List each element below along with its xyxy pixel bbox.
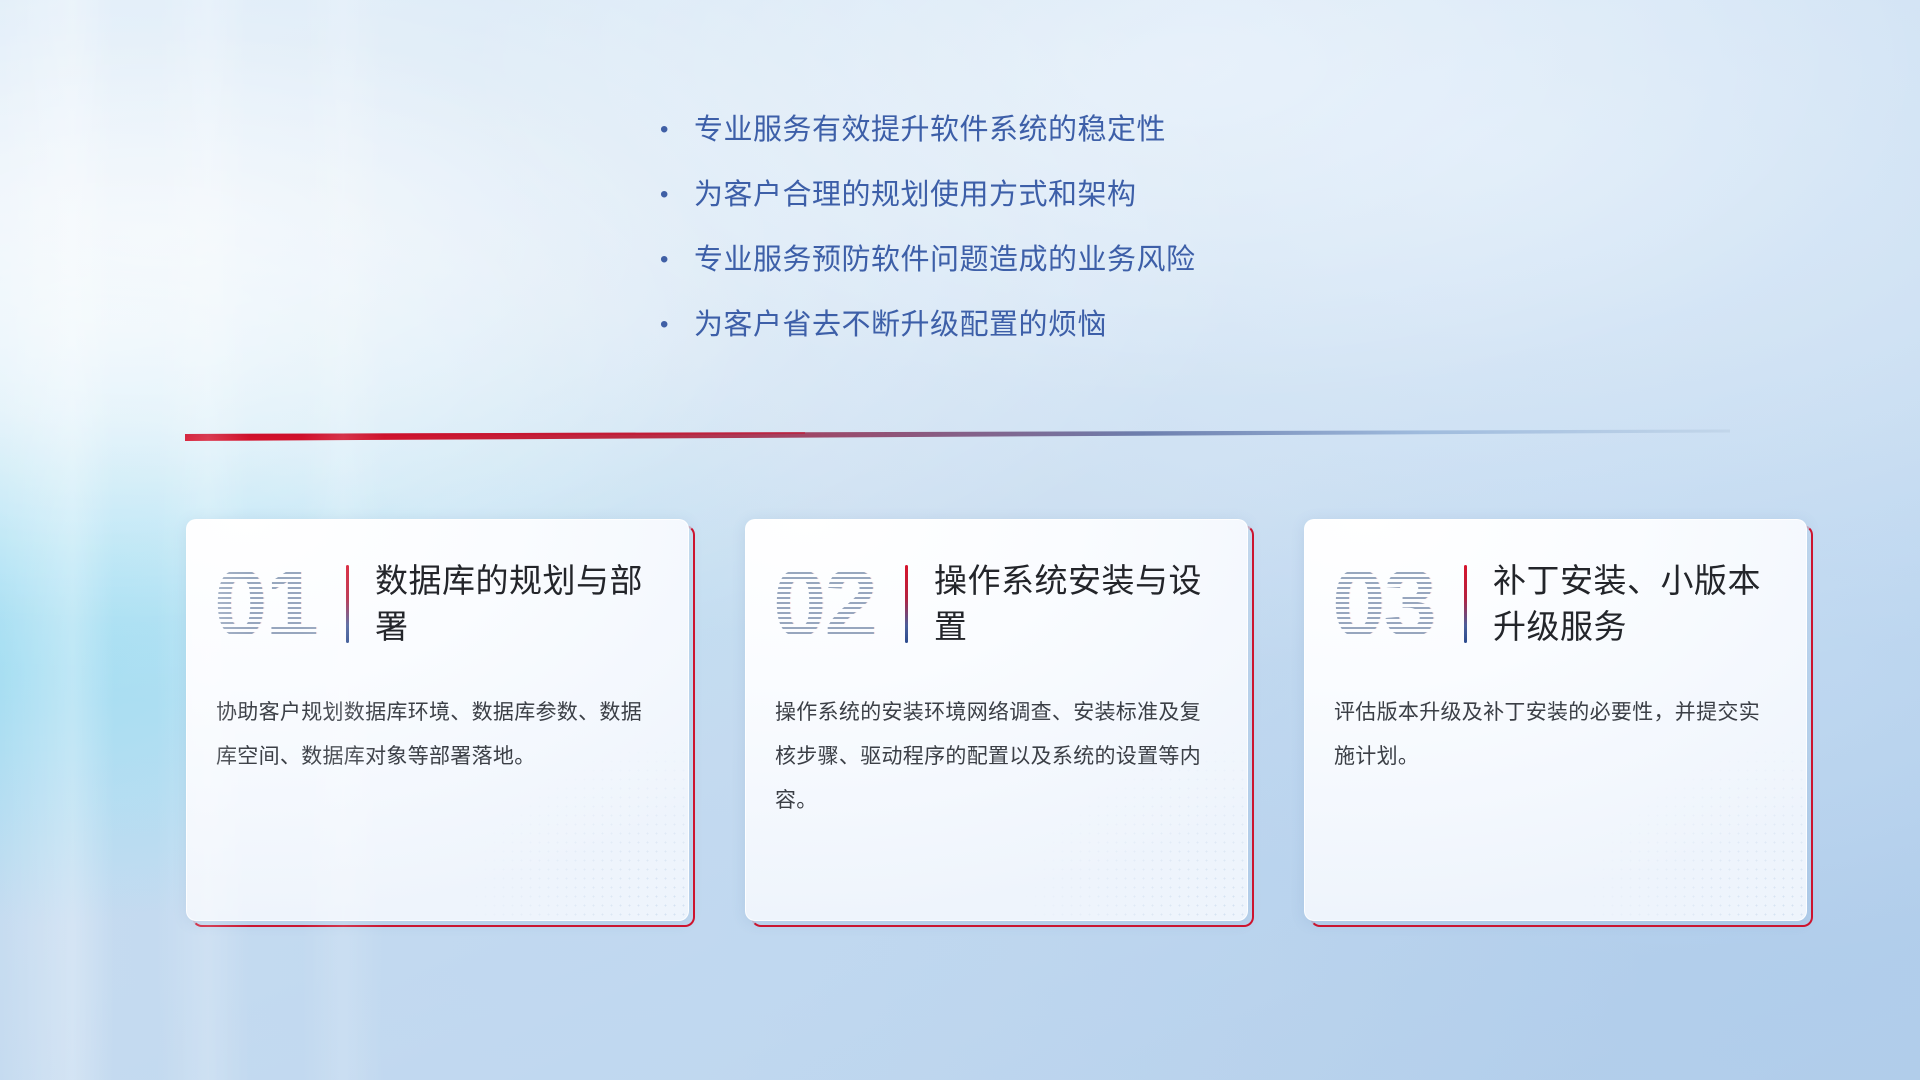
- list-item: • 为客户省去不断升级配置的烦恼: [660, 303, 1420, 368]
- list-item: • 为客户合理的规划使用方式和架构: [660, 173, 1420, 238]
- bullet-marker-icon: •: [660, 303, 694, 347]
- bullet-text: 专业服务有效提升软件系统的稳定性: [694, 108, 1166, 152]
- list-item: • 专业服务有效提升软件系统的稳定性: [660, 108, 1420, 173]
- slide-canvas: • 专业服务有效提升软件系统的稳定性 • 为客户合理的规划使用方式和架构 • 专…: [0, 0, 1920, 1080]
- card-panel: 03 补丁安装、小版本升级服务 评估版本升级及补丁安装的必要性，并提交实施计划。: [1304, 519, 1807, 921]
- card-title: 操作系统安装与设置: [934, 558, 1228, 650]
- card-number-watermark: 02: [773, 552, 895, 656]
- service-card-03[interactable]: 03 补丁安装、小版本升级服务 评估版本升级及补丁安装的必要性，并提交实施计划。: [1304, 519, 1807, 921]
- divider-wedge-icon: [185, 425, 1730, 447]
- bullet-text: 为客户省去不断升级配置的烦恼: [694, 303, 1107, 347]
- card-accent-bar-icon: [346, 565, 349, 643]
- card-header: 01 数据库的规划与部署: [214, 543, 669, 665]
- list-item: • 专业服务预防软件问题造成的业务风险: [660, 238, 1420, 303]
- benefits-bullet-list: • 专业服务有效提升软件系统的稳定性 • 为客户合理的规划使用方式和架构 • 专…: [660, 108, 1420, 368]
- card-panel: 01 数据库的规划与部署 协助客户规划数据库环境、数据库参数、数据库空间、数据库…: [186, 519, 689, 921]
- bullet-text: 为客户合理的规划使用方式和架构: [694, 173, 1137, 217]
- card-description: 评估版本升级及补丁安装的必要性，并提交实施计划。: [1334, 691, 1779, 779]
- card-number-watermark: 03: [1332, 552, 1454, 656]
- card-description: 操作系统的安装环境网络调查、安装标准及复核步骤、驱动程序的配置以及系统的设置等内…: [775, 691, 1220, 823]
- card-title: 补丁安装、小版本升级服务: [1493, 558, 1787, 650]
- bullet-marker-icon: •: [660, 108, 694, 152]
- bullet-marker-icon: •: [660, 173, 694, 217]
- card-number-watermark: 01: [214, 552, 336, 656]
- section-divider: [185, 425, 1730, 447]
- card-accent-bar-icon: [1464, 565, 1467, 643]
- card-title: 数据库的规划与部署: [375, 558, 669, 650]
- card-description: 协助客户规划数据库环境、数据库参数、数据库空间、数据库对象等部署落地。: [216, 691, 661, 779]
- bullet-text: 专业服务预防软件问题造成的业务风险: [694, 238, 1196, 282]
- card-accent-bar-icon: [905, 565, 908, 643]
- service-card-01[interactable]: 01 数据库的规划与部署 协助客户规划数据库环境、数据库参数、数据库空间、数据库…: [186, 519, 689, 921]
- service-card-02[interactable]: 02 操作系统安装与设置 操作系统的安装环境网络调查、安装标准及复核步骤、驱动程…: [745, 519, 1248, 921]
- service-card-list: 01 数据库的规划与部署 协助客户规划数据库环境、数据库参数、数据库空间、数据库…: [186, 519, 1808, 921]
- card-header: 03 补丁安装、小版本升级服务: [1332, 543, 1787, 665]
- card-header: 02 操作系统安装与设置: [773, 543, 1228, 665]
- bullet-marker-icon: •: [660, 238, 694, 282]
- card-panel: 02 操作系统安装与设置 操作系统的安装环境网络调查、安装标准及复核步骤、驱动程…: [745, 519, 1248, 921]
